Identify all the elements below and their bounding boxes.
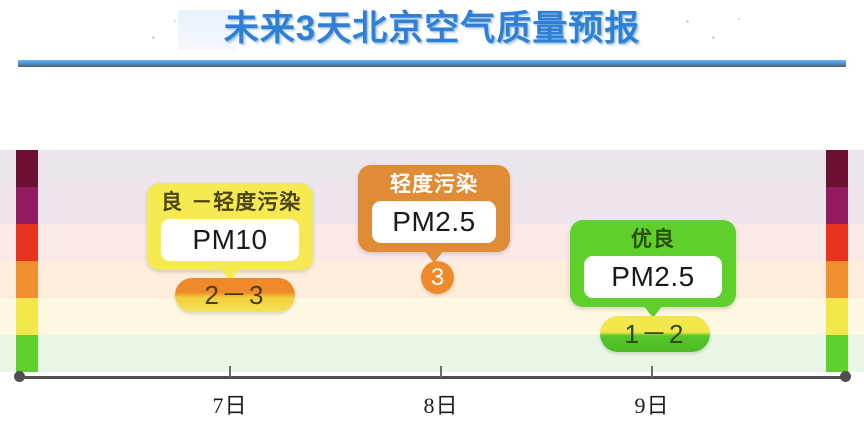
x-axis-label-day1: 7日 — [170, 388, 290, 420]
forecast-card-day1[interactable]: 良 －轻度污染 PM10 — [147, 183, 313, 270]
level-badge-day2: 3 — [421, 261, 454, 294]
aqi-scale-swatch-left-level-5 — [16, 187, 38, 224]
aqi-scale-swatch-right-level-1 — [826, 335, 848, 372]
aqi-scale-swatch-right-level-6 — [826, 150, 848, 187]
forecast-card-box: 良 －轻度污染 PM10 — [147, 183, 313, 270]
level-badge-day1: 2－3 — [175, 278, 295, 312]
aqi-scale-swatch-right-level-3 — [826, 261, 848, 298]
x-axis-tick — [651, 366, 653, 377]
x-axis-label-day3: 9日 — [592, 388, 712, 420]
aqi-scale-swatch-left-level-3 — [16, 261, 38, 298]
forecast-card-box: 优良 PM2.5 — [570, 220, 736, 307]
level-badge-day3: 1－2 — [600, 316, 710, 352]
aqi-band-level-1 — [0, 335, 864, 372]
x-axis-tick — [440, 366, 442, 377]
aqi-scale-swatch-right-level-5 — [826, 187, 848, 224]
page-title: 未来3天北京空气质量预报 — [0, 6, 864, 52]
forecast-level-label: 轻度污染 — [372, 171, 496, 197]
x-axis-tick — [229, 366, 231, 377]
x-axis-label-day2: 8日 — [381, 388, 501, 420]
title-divider — [18, 60, 846, 67]
x-axis-cap-right — [840, 371, 851, 382]
aqi-scale-swatch-right-level-4 — [826, 224, 848, 261]
forecast-card-day3[interactable]: 优良 PM2.5 — [570, 220, 736, 307]
forecast-pollutant-label: PM2.5 — [372, 201, 496, 243]
aqi-scale-swatch-left-level-6 — [16, 150, 38, 187]
header: 未来3天北京空气质量预报 — [0, 0, 864, 72]
x-axis-cap-left — [14, 371, 25, 382]
aqi-scale-swatch-right-level-2 — [826, 298, 848, 335]
forecast-pollutant-label: PM10 — [161, 219, 299, 261]
aqi-scale-swatch-left-level-2 — [16, 298, 38, 335]
forecast-pollutant-label: PM2.5 — [584, 256, 722, 298]
forecast-level-label: 良 －轻度污染 — [161, 189, 299, 215]
aqi-scale-swatch-left-level-4 — [16, 224, 38, 261]
x-axis-line — [16, 376, 846, 379]
forecast-level-label: 优良 — [584, 226, 722, 252]
aqi-scale-swatch-left-level-1 — [16, 335, 38, 372]
forecast-card-box: 轻度污染 PM2.5 — [358, 165, 510, 252]
forecast-card-day2[interactable]: 轻度污染 PM2.5 — [358, 165, 510, 252]
